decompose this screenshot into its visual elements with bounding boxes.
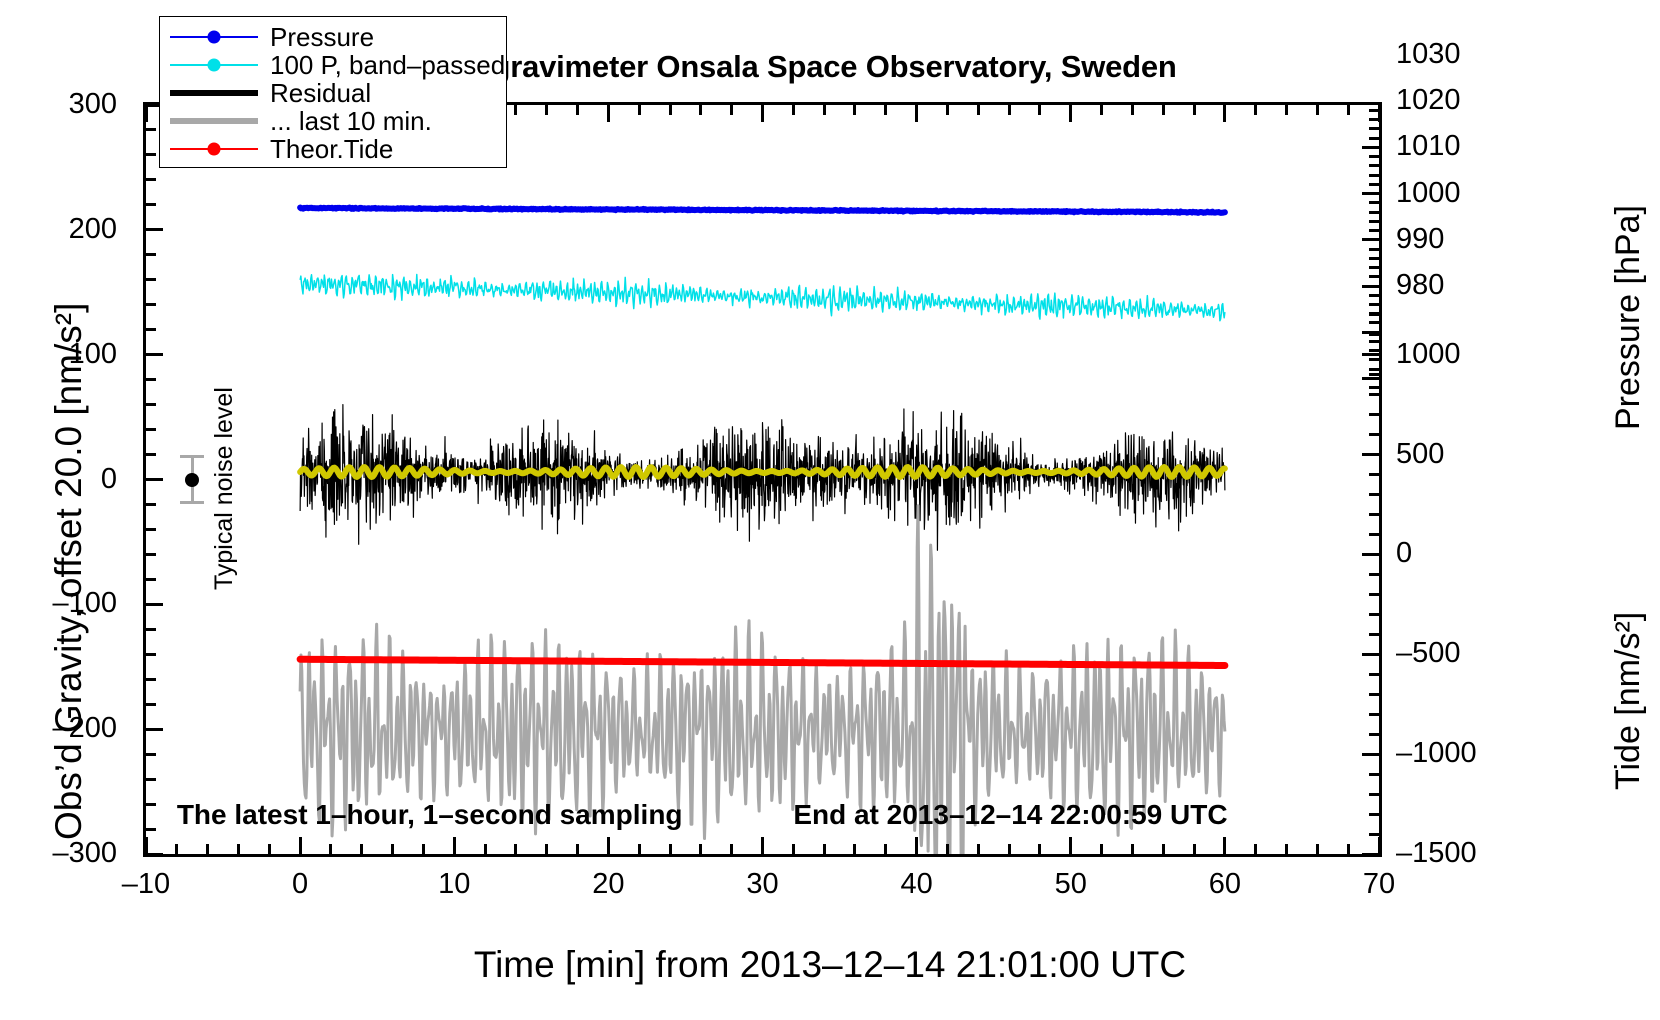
tide-tick--600 xyxy=(1369,673,1379,676)
legend-swatch-icon xyxy=(170,111,258,131)
bottom-tick-38 xyxy=(884,844,887,854)
bottom-tick-4 xyxy=(360,844,363,854)
pressure-tick-1012 xyxy=(1369,137,1379,140)
legend-line-icon xyxy=(170,90,258,96)
legend-swatch-icon xyxy=(170,55,258,75)
pressure-tick-960 xyxy=(1362,377,1379,380)
bottom-tick-32 xyxy=(792,844,795,854)
pressure-tick-980 xyxy=(1362,285,1379,288)
bottom-tick--8 xyxy=(175,844,178,854)
pressure-tick-1000 xyxy=(1362,192,1379,195)
bottom-tick-70 xyxy=(1378,837,1381,854)
pressure-tick-986 xyxy=(1369,257,1379,260)
top-tick-30 xyxy=(761,105,764,122)
bottom-tick-22 xyxy=(638,844,641,854)
pressure-tick-966 xyxy=(1369,349,1379,352)
top-tick-40 xyxy=(915,105,918,122)
left-tick--20 xyxy=(146,503,156,506)
pressure-tick-968 xyxy=(1369,340,1379,343)
tide-ticklabel--500: –500 xyxy=(1396,639,1516,668)
pressure-tick-976 xyxy=(1369,303,1379,306)
legend-label: Residual xyxy=(258,78,371,109)
bottom-ticklabel-70: 70 xyxy=(1309,870,1449,899)
left-tick-200 xyxy=(146,228,163,231)
bottom-tick-50 xyxy=(1069,837,1072,854)
top-tick-54 xyxy=(1131,105,1134,115)
tide-tick-300 xyxy=(1369,493,1379,496)
tide-tick--1000 xyxy=(1362,753,1379,756)
left-tick-100 xyxy=(146,353,163,356)
legend-item-1: 100 P, band–passed xyxy=(160,51,506,79)
tide-tick--1500 xyxy=(1362,853,1379,856)
pressure-tick-1008 xyxy=(1369,155,1379,158)
plot-area xyxy=(143,102,1382,857)
legend-label: Theor.Tide xyxy=(258,134,393,165)
tide-tick-0 xyxy=(1362,553,1379,556)
bottom-ticklabel-10: 10 xyxy=(384,870,524,899)
tide-tick-700 xyxy=(1369,413,1379,416)
top-tick-28 xyxy=(730,105,733,115)
pressure-tick-1004 xyxy=(1369,174,1379,177)
pressure-tick-984 xyxy=(1369,266,1379,269)
top-tick-20 xyxy=(607,105,610,122)
bottom-tick-56 xyxy=(1162,844,1165,854)
pressure-tick-1010 xyxy=(1362,146,1379,149)
bottom-tick-44 xyxy=(977,844,980,854)
top-tick-44 xyxy=(977,105,980,115)
bottom-tick-66 xyxy=(1316,844,1319,854)
bottom-tick-54 xyxy=(1131,844,1134,854)
bottom-tick-30 xyxy=(761,837,764,854)
top-tick-60 xyxy=(1223,105,1226,122)
pressure-tick-990 xyxy=(1362,238,1379,241)
tide-tick-200 xyxy=(1369,513,1379,516)
top-tick-68 xyxy=(1347,105,1350,115)
bottom-tick-60 xyxy=(1223,837,1226,854)
legend-item-0: Pressure xyxy=(160,23,506,51)
top-tick-48 xyxy=(1038,105,1041,115)
bottom-tick-10 xyxy=(453,837,456,854)
plot-traces-clip xyxy=(146,105,1379,854)
pressure-tick-958 xyxy=(1369,386,1379,389)
bottom-tick-42 xyxy=(946,844,949,854)
legend-swatch-icon xyxy=(170,83,258,103)
errorbar-center-marker xyxy=(185,473,199,487)
pressure-ticklabel-1030: 1030 xyxy=(1396,40,1516,69)
left-tick--260 xyxy=(146,803,156,806)
top-tick-16 xyxy=(545,105,548,115)
bottom-tick-20 xyxy=(607,837,610,854)
bottom-tick-62 xyxy=(1254,844,1257,854)
left-tick--120 xyxy=(146,628,156,631)
left-tick-220 xyxy=(146,203,156,206)
left-ticklabel--300: –300 xyxy=(0,839,117,868)
legend-label: Pressure xyxy=(258,22,374,53)
legend-marker-icon xyxy=(208,59,221,72)
bottom-tick-40 xyxy=(915,837,918,854)
pressure-tick-962 xyxy=(1369,368,1379,371)
bottom-ticklabel--10: –10 xyxy=(76,870,216,899)
tide-ticklabel-1000: 1000 xyxy=(1396,340,1516,369)
tide-tick--900 xyxy=(1369,733,1379,736)
tide-tick-900 xyxy=(1369,373,1379,376)
left-tick-160 xyxy=(146,278,156,281)
tide-tick-1200 xyxy=(1369,313,1379,316)
top-tick-52 xyxy=(1100,105,1103,115)
left-tick--180 xyxy=(146,703,156,706)
tide-ticklabel-0: 0 xyxy=(1396,539,1516,568)
bottom-tick-18 xyxy=(576,844,579,854)
pressure-ticklabel-1020: 1020 xyxy=(1396,86,1516,115)
tide-tick-1000 xyxy=(1362,353,1379,356)
tide-ticklabel--1000: –1000 xyxy=(1396,739,1516,768)
data-traces-svg xyxy=(146,105,1379,854)
bottom-tick-68 xyxy=(1347,844,1350,854)
legend-item-3: ... last 10 min. xyxy=(160,107,506,135)
top-tick-18 xyxy=(576,105,579,115)
top-tick-56 xyxy=(1162,105,1165,115)
top-tick-34 xyxy=(823,105,826,115)
left-tick-280 xyxy=(146,128,156,131)
bottom-tick-8 xyxy=(422,844,425,854)
bottom-tick-58 xyxy=(1193,844,1196,854)
pressure-trace xyxy=(300,208,1225,213)
left-tick--100 xyxy=(146,603,163,606)
pressure-tick-1006 xyxy=(1369,164,1379,167)
tide-tick--400 xyxy=(1369,633,1379,636)
legend-label: 100 P, band–passed xyxy=(258,50,505,81)
left-tick-140 xyxy=(146,303,156,306)
top-tick-14 xyxy=(514,105,517,115)
pressure-tick-1002 xyxy=(1369,183,1379,186)
bottom-tick-14 xyxy=(514,844,517,854)
pressure-ticklabel-990: 990 xyxy=(1396,225,1516,254)
legend-marker-icon xyxy=(208,31,221,44)
top-tick-62 xyxy=(1254,105,1257,115)
bottom-tick-46 xyxy=(1008,844,1011,854)
bottom-tick--2 xyxy=(268,844,271,854)
bottom-ticklabel-20: 20 xyxy=(538,870,678,899)
tide-tick--700 xyxy=(1369,693,1379,696)
left-tick--40 xyxy=(146,528,156,531)
top-tick-32 xyxy=(792,105,795,115)
bandpassed-pressure-trace xyxy=(300,275,1225,321)
top-tick-50 xyxy=(1069,105,1072,122)
bottom-ticklabel-40: 40 xyxy=(847,870,987,899)
left-tick--60 xyxy=(146,553,156,556)
tide-tick--100 xyxy=(1369,573,1379,576)
left-tick-180 xyxy=(146,253,156,256)
tide-tick--1300 xyxy=(1369,813,1379,816)
pressure-tick-964 xyxy=(1369,358,1379,361)
tide-tick-500 xyxy=(1362,453,1379,456)
pressure-tick-972 xyxy=(1369,321,1379,324)
left-tick--280 xyxy=(146,828,156,831)
tide-tick-400 xyxy=(1369,473,1379,476)
x-axis-label: Time [min] from 2013–12–14 21:01:00 UTC xyxy=(0,944,1660,986)
pressure-tick-998 xyxy=(1369,201,1379,204)
top-tick-58 xyxy=(1193,105,1196,115)
left-tick-260 xyxy=(146,153,156,156)
top-tick-36 xyxy=(853,105,856,115)
errorbar-cap-top xyxy=(180,455,204,458)
tide-tick-800 xyxy=(1369,393,1379,396)
tide-ticklabel--1500: –1500 xyxy=(1396,839,1516,868)
bottom-ticklabel-30: 30 xyxy=(693,870,833,899)
top-tick-46 xyxy=(1008,105,1011,115)
bottom-tick-2 xyxy=(329,844,332,854)
bottom-tick-52 xyxy=(1100,844,1103,854)
left-ticklabel-200: 200 xyxy=(0,215,117,244)
bottom-tick--6 xyxy=(206,844,209,854)
pressure-ticklabel-1010: 1010 xyxy=(1396,132,1516,161)
pressure-tick-988 xyxy=(1369,248,1379,251)
bottom-tick-24 xyxy=(669,844,672,854)
legend-item-2: Residual xyxy=(160,79,506,107)
end-time-note: End at 2013–12–14 22:00:59 UTC xyxy=(793,799,1227,831)
left-tick-20 xyxy=(146,453,156,456)
bottom-ticklabel-50: 50 xyxy=(1001,870,1141,899)
bottom-ticklabel-0: 0 xyxy=(230,870,370,899)
bottom-ticklabel-60: 60 xyxy=(1155,870,1295,899)
top-tick-24 xyxy=(669,105,672,115)
pressure-tick-982 xyxy=(1369,275,1379,278)
legend-line-icon xyxy=(170,118,258,124)
left-tick-240 xyxy=(146,178,156,181)
left-tick--240 xyxy=(146,778,156,781)
bottom-tick--10 xyxy=(145,837,148,854)
tide-tick--1100 xyxy=(1369,773,1379,776)
legend-swatch-icon xyxy=(170,139,258,159)
left-tick--220 xyxy=(146,753,156,756)
bottom-tick-12 xyxy=(484,844,487,854)
pressure-ticklabel-980: 980 xyxy=(1396,271,1516,300)
errorbar-cap-bottom xyxy=(180,501,204,504)
left-tick-120 xyxy=(146,328,156,331)
tide-tick-600 xyxy=(1369,433,1379,436)
residual-trace xyxy=(300,405,1225,551)
y-axis-label-tide: Tide [nm/s²] xyxy=(1609,612,1648,790)
top-tick-26 xyxy=(699,105,702,115)
pressure-tick-992 xyxy=(1369,229,1379,232)
left-tick--160 xyxy=(146,678,156,681)
tide-tick-1100 xyxy=(1369,333,1379,336)
left-tick--300 xyxy=(146,853,163,856)
bottom-tick-36 xyxy=(853,844,856,854)
tide-tick--200 xyxy=(1369,593,1379,596)
top-tick-70 xyxy=(1378,105,1381,122)
bottom-tick-6 xyxy=(391,844,394,854)
bottom-tick-0 xyxy=(299,837,302,854)
top-tick-22 xyxy=(638,105,641,115)
bottom-tick-26 xyxy=(699,844,702,854)
pressure-tick-1014 xyxy=(1369,127,1379,130)
legend-item-4: Theor.Tide xyxy=(160,135,506,163)
bottom-tick-28 xyxy=(730,844,733,854)
legend: Pressure100 P, band–passedResidual... la… xyxy=(159,16,507,168)
pressure-tick-994 xyxy=(1369,220,1379,223)
top-tick-64 xyxy=(1285,105,1288,115)
top-tick-42 xyxy=(946,105,949,115)
tide-tick--1400 xyxy=(1369,833,1379,836)
legend-label: ... last 10 min. xyxy=(258,106,432,137)
tide-tick--1200 xyxy=(1369,793,1379,796)
tide-tick--300 xyxy=(1369,613,1379,616)
bottom-tick-64 xyxy=(1285,844,1288,854)
sampling-note: The latest 1–hour, 1–second sampling xyxy=(177,799,683,831)
left-tick--80 xyxy=(146,578,156,581)
left-tick--200 xyxy=(146,728,163,731)
typical-noise-level-label: Typical noise level xyxy=(210,387,239,590)
left-tick-60 xyxy=(146,403,156,406)
left-tick-80 xyxy=(146,378,156,381)
bottom-tick-34 xyxy=(823,844,826,854)
legend-marker-icon xyxy=(208,143,221,156)
legend-swatch-icon xyxy=(170,27,258,47)
tide-ticklabel-500: 500 xyxy=(1396,440,1516,469)
pressure-tick-996 xyxy=(1369,211,1379,214)
bottom-tick-48 xyxy=(1038,844,1041,854)
left-tick-0 xyxy=(146,478,163,481)
y-axis-label-pressure: Pressure [hPa] xyxy=(1609,205,1648,430)
top-tick--10 xyxy=(145,105,148,122)
top-tick-66 xyxy=(1316,105,1319,115)
pressure-tick-978 xyxy=(1369,294,1379,297)
tide-tick--800 xyxy=(1369,713,1379,716)
left-tick--140 xyxy=(146,653,156,656)
pressure-ticklabel-1000: 1000 xyxy=(1396,179,1516,208)
top-tick-38 xyxy=(884,105,887,115)
bottom-tick-16 xyxy=(545,844,548,854)
tide-tick-100 xyxy=(1369,533,1379,536)
left-tick-40 xyxy=(146,428,156,431)
tide-tick--500 xyxy=(1362,653,1379,656)
left-ticklabel-300: 300 xyxy=(0,90,117,119)
bottom-tick--4 xyxy=(237,844,240,854)
y-axis-label-left: Obs’d Gravity, offset 20.0 [nm/s²] xyxy=(48,303,90,840)
